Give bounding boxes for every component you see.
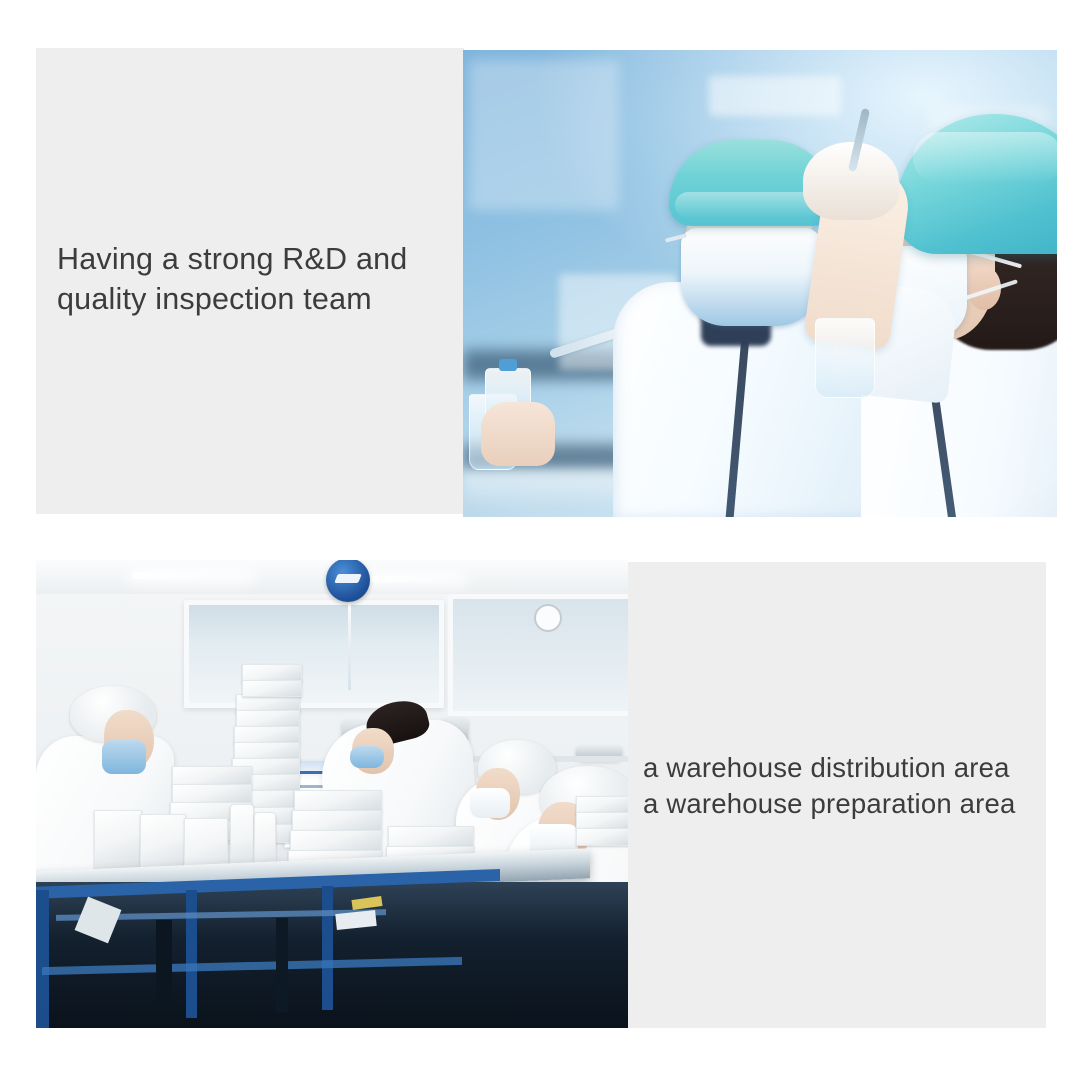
page-root: Having a strong R&D and quality inspecti… bbox=[0, 0, 1080, 1080]
lab-sample-vial bbox=[815, 318, 875, 398]
carton-upright-1 bbox=[94, 810, 142, 874]
carton-right-3 bbox=[576, 828, 628, 846]
carton-center-1 bbox=[294, 790, 382, 812]
rd-caption-text: Having a strong R&D and quality inspecti… bbox=[57, 240, 457, 319]
hanging-cord bbox=[348, 602, 351, 690]
table-leg-left bbox=[36, 890, 49, 1028]
ceiling-light-2 bbox=[366, 576, 462, 582]
worker-2-face-mask bbox=[350, 746, 384, 768]
worker-1-face-mask bbox=[102, 740, 146, 774]
carton-top-2 bbox=[242, 680, 302, 697]
ceiling-light-1 bbox=[132, 572, 250, 579]
carton-center-2 bbox=[292, 810, 382, 832]
lab-wall-panel bbox=[469, 60, 619, 210]
carton-mid-2 bbox=[172, 784, 252, 804]
warehouse-caption-text: a warehouse distribution area a warehous… bbox=[643, 750, 1053, 822]
lab-ceiling-fixture bbox=[709, 76, 841, 116]
warehouse-packing-photo bbox=[36, 560, 628, 1028]
ceiling-company-logo-icon bbox=[326, 560, 370, 602]
table-leg-mid-2 bbox=[322, 886, 333, 1010]
table-shadow-post-2 bbox=[276, 918, 288, 1012]
carton-mid-1 bbox=[172, 766, 252, 786]
wall-clock bbox=[534, 604, 562, 632]
technician-a-face-mask bbox=[681, 228, 821, 326]
table-shadow-post bbox=[156, 920, 172, 1010]
technician-hand-left bbox=[481, 402, 555, 466]
rd-lab-photo bbox=[463, 50, 1057, 517]
cleanroom-window bbox=[184, 600, 444, 708]
carton-center-right-1 bbox=[388, 826, 474, 848]
table-leg-mid bbox=[186, 890, 197, 1018]
worker-3-face-mask bbox=[470, 788, 510, 818]
carton-center-3 bbox=[290, 830, 382, 852]
